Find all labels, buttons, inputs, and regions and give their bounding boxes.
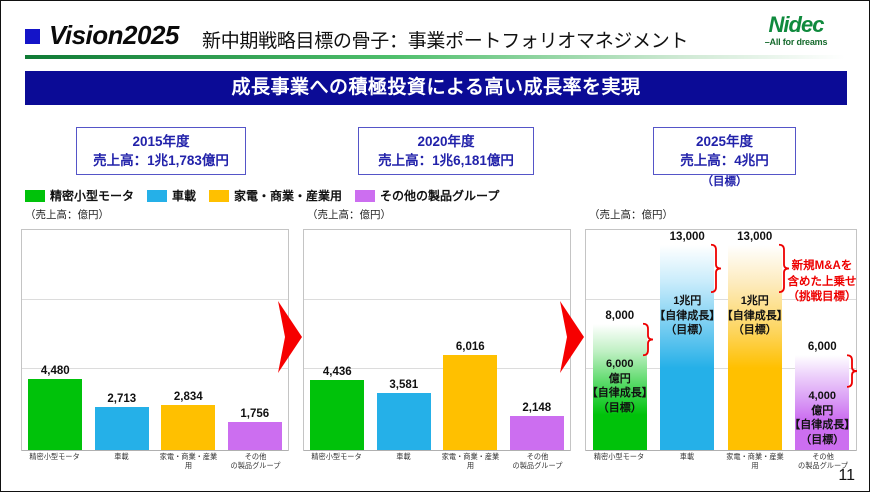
logo-wordmark: Nidec xyxy=(741,13,851,37)
bar-column: 2,148 xyxy=(510,229,564,450)
legend-swatch-blue xyxy=(147,190,167,202)
year-label: 2025年度 xyxy=(660,132,789,151)
slide-header: Vision2025 新中期戦略目標の骨子：事業ポートフォリオマネジメント Ni… xyxy=(1,7,869,59)
plot-area: 4,4802,7132,8341,756 xyxy=(21,229,289,451)
bar-value-label: 2,713 xyxy=(107,393,136,405)
x-axis-label: 家電・商業・産業用 xyxy=(158,452,220,470)
bar-column: 1,756 xyxy=(228,229,282,450)
slide: Vision2025 新中期戦略目標の骨子：事業ポートフォリオマネジメント Ni… xyxy=(0,0,870,492)
x-axis-label: 車載 xyxy=(91,452,153,470)
bar-column: 4,436 xyxy=(310,229,364,450)
plot-area: 4,4363,5816,0162,148 xyxy=(303,229,571,451)
legend-label: 精密小型モータ xyxy=(50,187,134,204)
bar xyxy=(228,422,282,450)
legend-item-automotive: 車載 xyxy=(147,187,196,204)
bar-group: 4,4802,7132,8341,756 xyxy=(22,229,288,450)
year-box-2015: 2015年度 売上高：1兆1,783億円 xyxy=(76,127,246,175)
bar xyxy=(377,393,431,450)
revenue-label: 売上高：1兆1,783億円 xyxy=(83,151,239,170)
page-number: 11 xyxy=(838,467,855,485)
ma-brace xyxy=(711,245,721,292)
bar-value-label: 1,756 xyxy=(240,408,269,420)
bar xyxy=(28,379,82,450)
legend-label: その他の製品グループ xyxy=(380,187,499,204)
bar-value-label: 4,436 xyxy=(323,366,352,378)
legend-item-other: その他の製品グループ xyxy=(355,187,499,204)
ma-annotation-line: （挑戦目標） xyxy=(773,290,870,306)
year-box-2025-note: （目標） xyxy=(653,173,796,189)
progress-arrow-icon xyxy=(278,301,304,373)
logo-tagline: –All for dreams xyxy=(741,37,851,47)
bar-group: 4,4363,5816,0162,148 xyxy=(304,229,570,450)
ma-annotation-line: 含めた上乗せ xyxy=(773,275,870,291)
ma-annotation-line: 新規M&Aを xyxy=(773,259,870,275)
bar xyxy=(510,416,564,450)
ma-brace-group xyxy=(585,207,870,487)
bar-value-label: 2,834 xyxy=(174,391,203,403)
x-axis-label: 家電・商業・産業用 xyxy=(440,452,502,470)
bar-column: 2,713 xyxy=(95,229,149,450)
year-label: 2020年度 xyxy=(365,132,527,151)
ma-brace xyxy=(643,324,653,356)
units-label: （売上高：億円） xyxy=(307,207,391,222)
ma-annotation: 新規M&Aを含めた上乗せ（挑戦目標） xyxy=(773,259,870,306)
legend-item-appliance: 家電・商業・産業用 xyxy=(209,187,342,204)
bar-value-label: 2,148 xyxy=(522,402,551,414)
year-label: 2015年度 xyxy=(83,132,239,151)
chart-panel-2020: （売上高：億円） 4,4363,5816,0162,148 精密小型モータ車載家… xyxy=(303,207,571,475)
bar xyxy=(310,380,364,450)
legend-swatch-green xyxy=(25,190,45,202)
legend: 精密小型モータ 車載 家電・商業・産業用 その他の製品グループ xyxy=(25,187,499,204)
bullet-square-icon xyxy=(25,29,40,44)
bar xyxy=(161,405,215,450)
legend-label: 車載 xyxy=(172,187,196,204)
banner-text: 成長事業への積極投資による高い成長率を実現 xyxy=(25,71,847,105)
header-divider xyxy=(25,55,845,59)
legend-item-precision: 精密小型モータ xyxy=(25,187,134,204)
x-axis-label: 車載 xyxy=(373,452,435,470)
bar-column: 2,834 xyxy=(161,229,215,450)
vision-title: Vision2025 xyxy=(49,20,179,51)
revenue-label: 売上高：4兆円 xyxy=(660,151,789,170)
x-axis-labels: 精密小型モータ車載家電・商業・産業用その他の製品グループ xyxy=(21,452,289,470)
ma-brace xyxy=(847,355,857,387)
bar xyxy=(443,355,497,450)
nidec-logo: Nidec –All for dreams xyxy=(741,13,851,47)
legend-swatch-purple xyxy=(355,190,375,202)
x-axis-label: その他の製品グループ xyxy=(507,452,569,470)
legend-label: 家電・商業・産業用 xyxy=(234,187,342,204)
x-axis-label: 精密小型モータ xyxy=(306,452,368,470)
header-subtitle: 新中期戦略目標の骨子：事業ポートフォリオマネジメント xyxy=(202,26,688,53)
x-axis-label: 精密小型モータ xyxy=(24,452,86,470)
bar-column: 6,016 xyxy=(443,229,497,450)
x-axis-labels: 精密小型モータ車載家電・商業・産業用その他の製品グループ xyxy=(303,452,571,470)
year-box-2025: 2025年度 売上高：4兆円 xyxy=(653,127,796,175)
chart-panel-2015: （売上高：億円） 4,4802,7132,8341,756 精密小型モータ車載家… xyxy=(21,207,289,475)
bar xyxy=(95,407,149,450)
bar-value-label: 4,480 xyxy=(41,365,70,377)
bar-column: 3,581 xyxy=(377,229,431,450)
legend-swatch-yellow xyxy=(209,190,229,202)
revenue-label: 売上高：1兆6,181億円 xyxy=(365,151,527,170)
bar-column: 4,480 xyxy=(28,229,82,450)
banner: 成長事業への積極投資による高い成長率を実現 xyxy=(25,71,847,105)
x-axis-label: その他の製品グループ xyxy=(225,452,287,470)
bar-value-label: 3,581 xyxy=(389,379,418,391)
bar-value-label: 6,016 xyxy=(456,341,485,353)
year-box-2020: 2020年度 売上高：1兆6,181億円 xyxy=(358,127,534,175)
units-label: （売上高：億円） xyxy=(25,207,109,222)
